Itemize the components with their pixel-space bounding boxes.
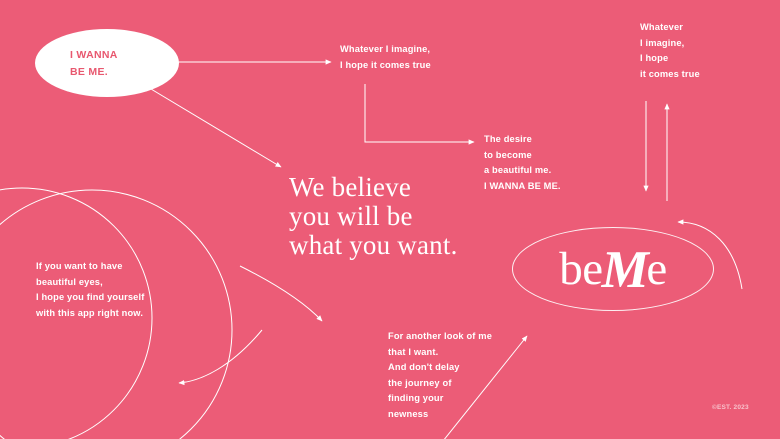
note-whatever-i-imagine: Whatever I imagine, I hope it comes true [340,42,431,73]
note-beautiful-eyes: If you want to have beautiful eyes, I ho… [36,259,144,321]
connector-imagine-to-desire [365,84,474,142]
note-whatever-i-imagine-right: Whatever I imagine, I hope it comes true [640,20,700,82]
note-the-desire: The desire to become a beautiful me. I W… [484,132,561,194]
connector-hero-to-headline [146,86,281,167]
connector-curve-to-newness [240,266,322,321]
logo-part-script-m: M [602,244,649,297]
logo-wordmark: beMe [512,227,714,311]
note-finding-newness: For another look of me that I want. And … [388,329,492,422]
page-headline: We believe you will be what you want. [289,173,458,260]
hero-ellipse-label: I WANNA BE ME. [70,47,118,81]
poster-canvas: I WANNA BE ME. Whatever I imagine, I hop… [0,0,780,439]
brand-logo[interactable]: beMe [512,227,714,311]
logo-part-be: be [559,246,602,293]
logo-part-e: e [646,246,666,293]
connector-curve-left-bottom [179,330,262,383]
copyright-mark: ©EST. 2023 [712,404,749,411]
